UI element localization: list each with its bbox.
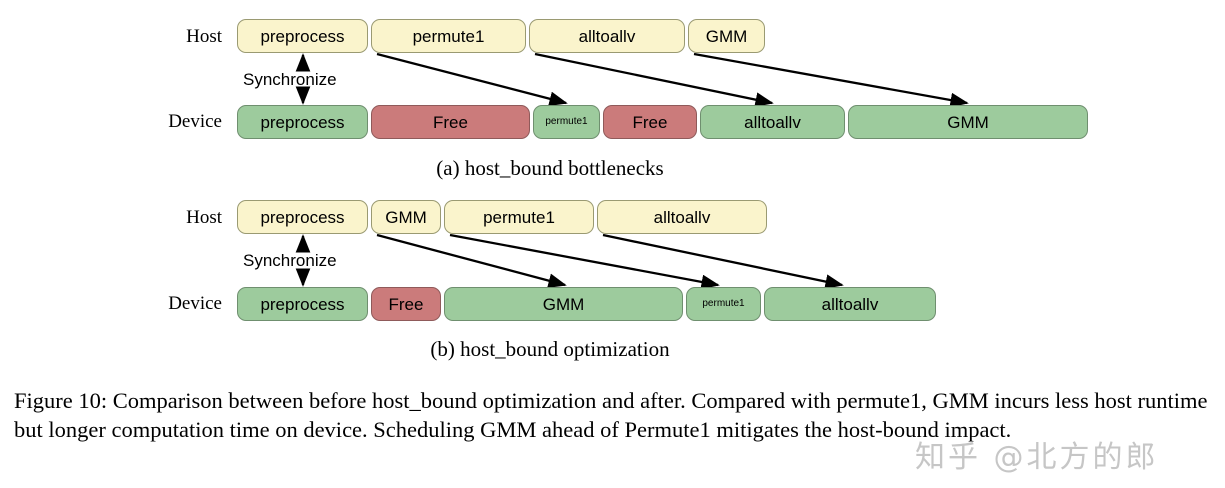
panel-a-device-bar-free: Free (603, 105, 697, 139)
panel-b-subcaption: (b) host_bound optimization (325, 337, 775, 362)
panel-b-host-row-label: Host (150, 207, 222, 229)
panel-b-device-bar-alltoallv: alltoallv (764, 287, 936, 321)
panel-a-synchronize-label: Synchronize (243, 70, 337, 90)
panel-b-device-bar-free: Free (371, 287, 441, 321)
panel-b-host-bar-gmm: GMM (371, 200, 441, 234)
arrow-alltoallv-host-to-alltoallv-device (603, 235, 842, 285)
figure-caption: Figure 10: Comparison between before hos… (14, 386, 1214, 445)
panel-b-synchronize-label: Synchronize (243, 251, 337, 271)
panel-b-device-bar-preprocess: preprocess (237, 287, 368, 321)
arrow-permute1-host-to-permute1-device (377, 54, 566, 103)
arrow-permute1-host-to-permute1-device (450, 235, 718, 285)
panel-a-device-row-label: Device (140, 111, 222, 133)
panel-b-host-bar-permute1: permute1 (444, 200, 594, 234)
arrow-alltoallv-host-to-alltoallv-device (535, 54, 772, 103)
panel-a-device-bar-alltoallv: alltoallv (700, 105, 845, 139)
panel-a-subcaption: (a) host_bound bottlenecks (325, 156, 775, 181)
arrow-GMM-host-to-GMM-device (377, 235, 565, 285)
panel-a-host-bar-gmm: GMM (688, 19, 765, 53)
panel-a-host-bar-preprocess: preprocess (237, 19, 368, 53)
panel-a-host-bar-permute1: permute1 (371, 19, 526, 53)
panel-b-device-bar-gmm: GMM (444, 287, 683, 321)
panel-b-host-bar-alltoallv: alltoallv (597, 200, 767, 234)
panel-b-host-bar-preprocess: preprocess (237, 200, 368, 234)
arrow-GMM-host-to-GMM-device (694, 54, 967, 103)
panel-a-host-bar-alltoallv: alltoallv (529, 19, 685, 53)
panel-b-device-bar-permute1: permute1 (686, 287, 761, 321)
panel-b-device-row-label: Device (140, 293, 222, 315)
panel-a-host-row-label: Host (150, 26, 222, 48)
panel-a-device-bar-free: Free (371, 105, 530, 139)
figure-10-root: Host Device preprocesspermute1alltoallvG… (0, 0, 1225, 488)
panel-a-device-bar-preprocess: preprocess (237, 105, 368, 139)
panel-a-device-bar-gmm: GMM (848, 105, 1088, 139)
panel-a-device-bar-permute1: permute1 (533, 105, 600, 139)
